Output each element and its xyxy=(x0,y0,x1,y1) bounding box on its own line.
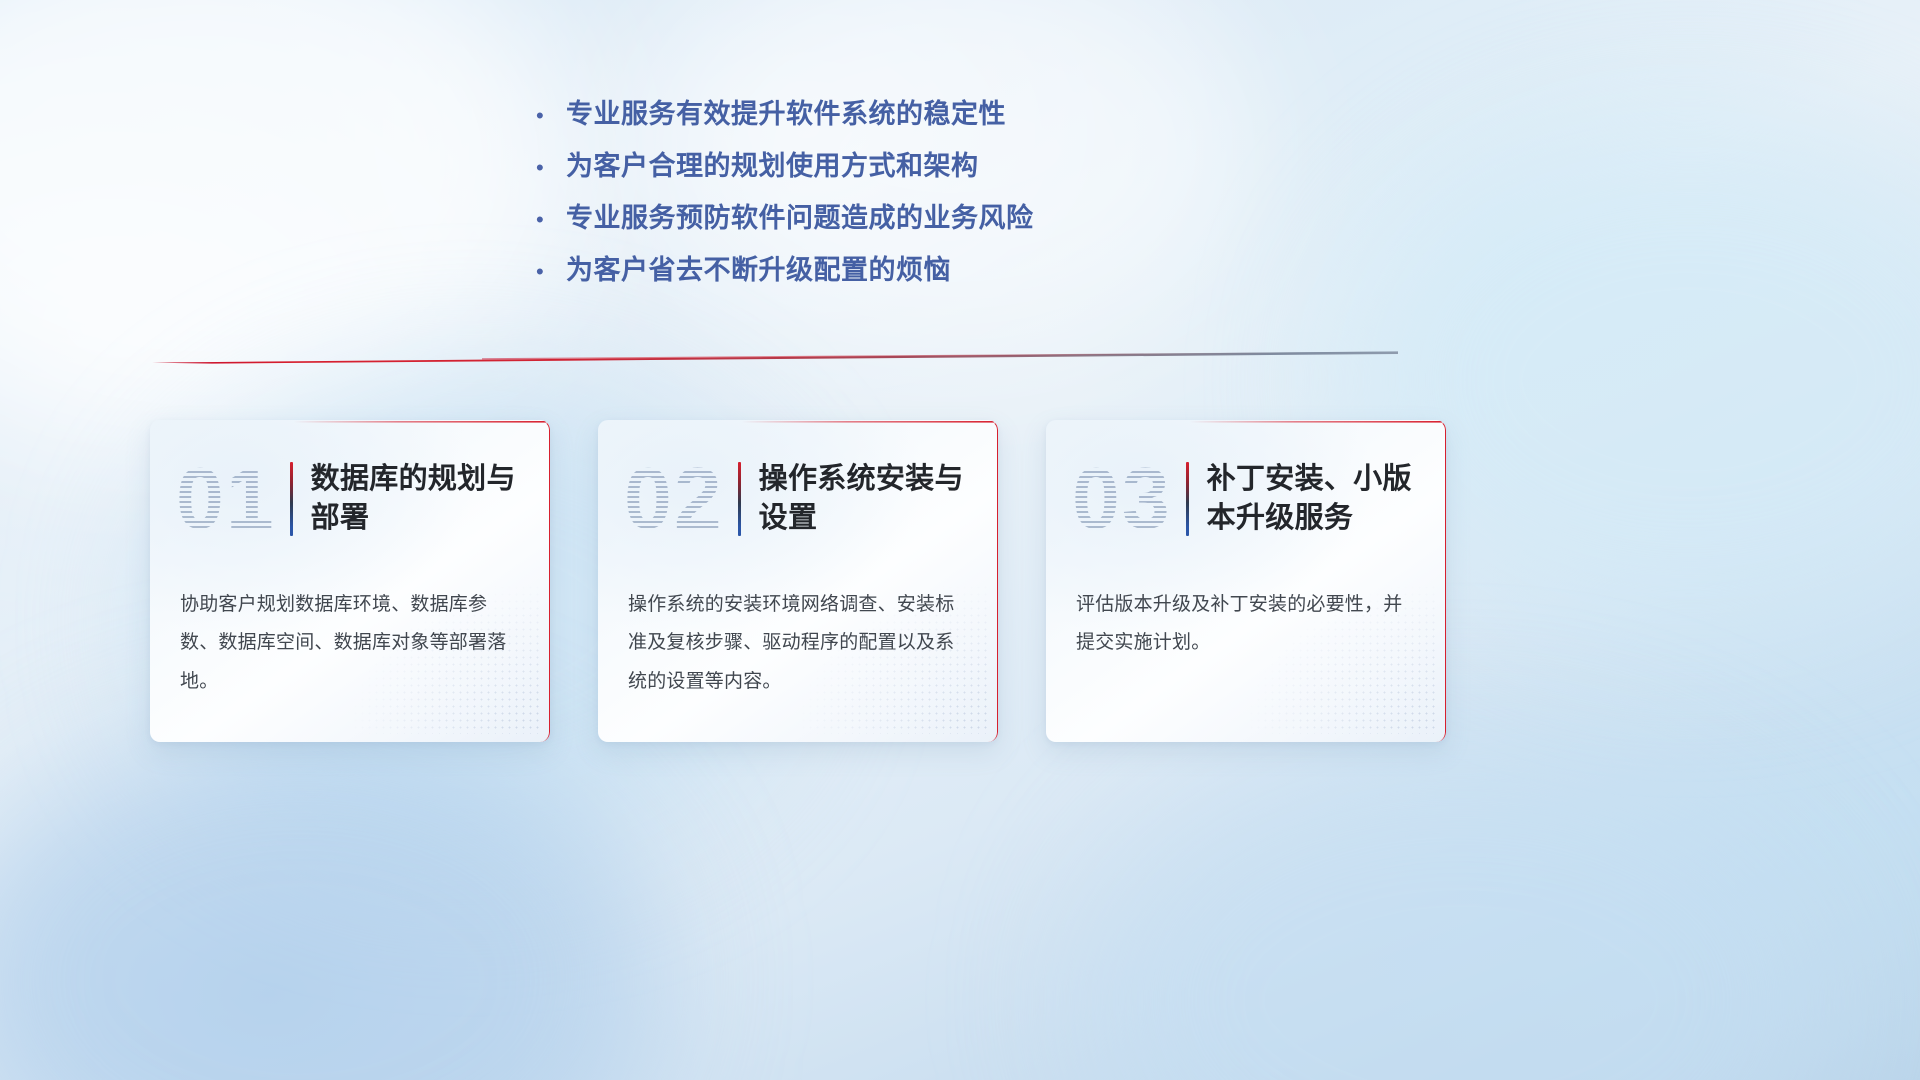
bullet-text: 为客户合理的规划使用方式和架构 xyxy=(566,144,979,183)
card-description: 操作系统的安装环境网络调查、安装标准及复核步骤、驱动程序的配置以及系统的设置等内… xyxy=(598,578,998,701)
card-vertical-rule xyxy=(1186,462,1189,536)
service-card-02[interactable]: 02 操作系统安装与设置 操作系统的安装环境网络调查、安装标准及复核步骤、驱动程… xyxy=(598,420,998,742)
service-cards-row: 01 数据库的规划与部署 协助客户规划数据库环境、数据库参数、数据库空间、数据库… xyxy=(150,420,1770,742)
list-item: • 专业服务预防软件问题造成的业务风险 xyxy=(536,196,1176,248)
card-title: 补丁安装、小版本升级服务 xyxy=(1207,460,1424,537)
card-number-watermark: 03 xyxy=(1072,456,1172,542)
card-title: 数据库的规划与部署 xyxy=(311,460,528,537)
card-header: 02 操作系统安装与设置 xyxy=(598,420,998,578)
bullet-text: 为客户省去不断升级配置的烦恼 xyxy=(566,248,951,287)
card-header: 01 数据库的规划与部署 xyxy=(150,420,550,578)
service-card-03[interactable]: 03 补丁安装、小版本升级服务 评估版本升级及补丁安装的必要性，并提交实施计划。 xyxy=(1046,420,1446,742)
section-divider xyxy=(152,348,1398,364)
card-vertical-rule xyxy=(290,462,293,536)
card-number-watermark: 01 xyxy=(176,456,276,542)
bullet-text: 专业服务预防软件问题造成的业务风险 xyxy=(566,196,1034,235)
card-description: 协助客户规划数据库环境、数据库参数、数据库空间、数据库对象等部署落地。 xyxy=(150,578,550,701)
card-header: 03 补丁安装、小版本升级服务 xyxy=(1046,420,1446,578)
list-item: • 专业服务有效提升软件系统的稳定性 xyxy=(536,92,1176,144)
benefits-bullet-list: • 专业服务有效提升软件系统的稳定性 • 为客户合理的规划使用方式和架构 • 专… xyxy=(536,92,1176,300)
list-item: • 为客户省去不断升级配置的烦恼 xyxy=(536,248,1176,300)
bullet-text: 专业服务有效提升软件系统的稳定性 xyxy=(566,92,1006,131)
background-blob xyxy=(0,720,660,1080)
card-description: 评估版本升级及补丁安装的必要性，并提交实施计划。 xyxy=(1046,578,1446,663)
bullet-marker-icon: • xyxy=(536,105,566,127)
card-vertical-rule xyxy=(738,462,741,536)
background-blob xyxy=(1080,740,1840,1080)
card-title: 操作系统安装与设置 xyxy=(759,460,976,537)
service-card-01[interactable]: 01 数据库的规划与部署 协助客户规划数据库环境、数据库参数、数据库空间、数据库… xyxy=(150,420,550,742)
bullet-marker-icon: • xyxy=(536,209,566,231)
slide-canvas: • 专业服务有效提升软件系统的稳定性 • 为客户合理的规划使用方式和架构 • 专… xyxy=(0,0,1920,1080)
bullet-marker-icon: • xyxy=(536,261,566,283)
card-number-watermark: 02 xyxy=(624,456,724,542)
bullet-marker-icon: • xyxy=(536,157,566,179)
list-item: • 为客户合理的规划使用方式和架构 xyxy=(536,144,1176,196)
background-blob xyxy=(0,0,580,440)
divider-shape-icon xyxy=(152,348,1398,364)
